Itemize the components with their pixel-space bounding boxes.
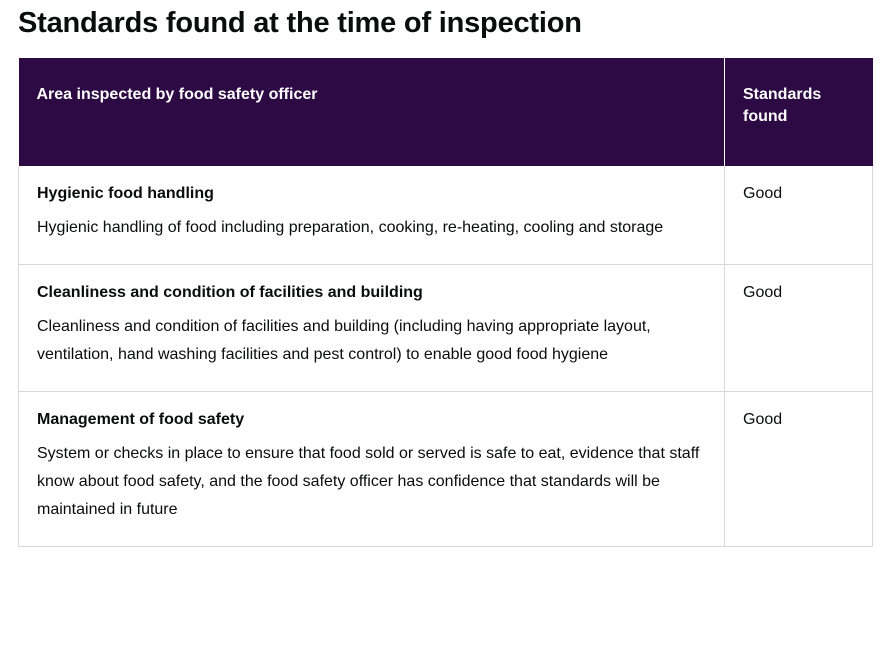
table-header: Area inspected by food safety officer St…	[19, 58, 873, 166]
cell-standards-found: Good	[725, 265, 873, 392]
cell-area-inspected: Cleanliness and condition of facilities …	[19, 265, 725, 392]
cell-standards-found: Good	[725, 392, 873, 547]
page-container: Standards found at the time of inspectio…	[0, 0, 887, 648]
table-row: Management of food safety System or chec…	[19, 392, 873, 547]
area-description: Cleanliness and condition of facilities …	[37, 313, 706, 369]
cell-area-inspected: Hygienic food handling Hygienic handling…	[19, 166, 725, 265]
standards-found-value: Good	[743, 184, 782, 202]
standards-found-table: Area inspected by food safety officer St…	[18, 58, 873, 547]
column-header-area-inspected: Area inspected by food safety officer	[19, 58, 725, 166]
column-header-standards-found: Standards found	[725, 58, 873, 166]
table-row: Hygienic food handling Hygienic handling…	[19, 166, 873, 265]
table-row: Cleanliness and condition of facilities …	[19, 265, 873, 392]
cell-standards-found: Good	[725, 166, 873, 265]
standards-found-value: Good	[743, 283, 782, 301]
area-title: Hygienic food handling	[37, 182, 706, 206]
area-description: System or checks in place to ensure that…	[37, 440, 706, 524]
table-body: Hygienic food handling Hygienic handling…	[19, 166, 873, 547]
cell-area-inspected: Management of food safety System or chec…	[19, 392, 725, 547]
area-title: Cleanliness and condition of facilities …	[37, 281, 706, 305]
area-title: Management of food safety	[37, 408, 706, 432]
page-title: Standards found at the time of inspectio…	[18, 4, 582, 42]
standards-found-value: Good	[743, 410, 782, 428]
area-description: Hygienic handling of food including prep…	[37, 214, 706, 242]
table-header-row: Area inspected by food safety officer St…	[19, 58, 873, 166]
